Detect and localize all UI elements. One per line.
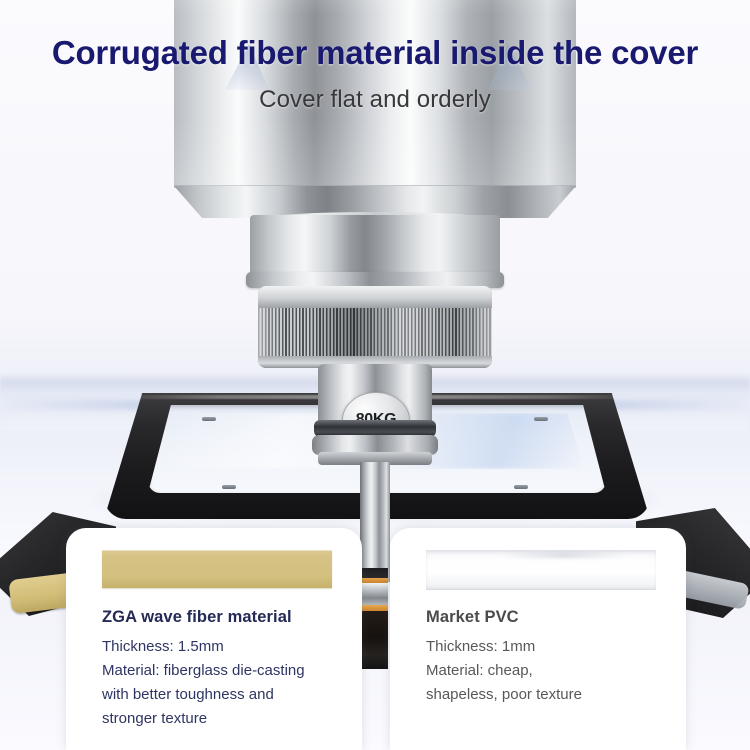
comparison-card-zga: ZGA wave fiber material Thickness: 1.5mm… xyxy=(66,528,362,750)
zga-spec-line: stronger texture xyxy=(102,707,340,731)
press-machine-neck xyxy=(250,215,500,277)
pvc-spec-line: shapeless, poor texture xyxy=(426,683,664,707)
case-notch-right-icon xyxy=(534,417,548,421)
zga-spec-line: Material: fiberglass die-casting xyxy=(102,659,340,683)
zga-card-body: Thickness: 1.5mm Material: fiberglass di… xyxy=(102,635,340,731)
case-notch-lower-right-icon xyxy=(514,485,528,489)
page-subtitle: Cover flat and orderly xyxy=(0,86,750,114)
material-stack-layer-5 xyxy=(362,611,388,669)
press-shaft xyxy=(360,462,390,582)
press-knurled-collar xyxy=(258,286,492,368)
zga-card-title: ZGA wave fiber material xyxy=(102,608,292,627)
page-title: Corrugated fiber material inside the cov… xyxy=(0,34,750,72)
case-notch-lower-left-icon xyxy=(222,485,236,489)
zga-spec-line: with better toughness and xyxy=(102,683,340,707)
pvc-card-body: Thickness: 1mm Material: cheap, shapeles… xyxy=(426,635,664,707)
collar-top-lip xyxy=(258,286,492,308)
material-stack-layer-3 xyxy=(362,583,388,605)
pvc-material-swatch xyxy=(426,550,656,590)
pvc-spec-line: Material: cheap, xyxy=(426,659,664,683)
pvc-card-title: Market PVC xyxy=(426,608,519,627)
zga-spec-line: Thickness: 1.5mm xyxy=(102,635,340,659)
case-notch-left-icon xyxy=(202,417,216,421)
material-stack-layer-1 xyxy=(362,568,388,578)
collar-knurling-shading xyxy=(258,308,492,356)
zga-material-swatch xyxy=(102,550,332,588)
pvc-spec-line: Thickness: 1mm xyxy=(426,635,664,659)
comparison-card-pvc: Market PVC Thickness: 1mm Material: chea… xyxy=(390,528,686,750)
product-marketing-image: 80KG ZGA wave fiber material Thickness: … xyxy=(0,0,750,750)
